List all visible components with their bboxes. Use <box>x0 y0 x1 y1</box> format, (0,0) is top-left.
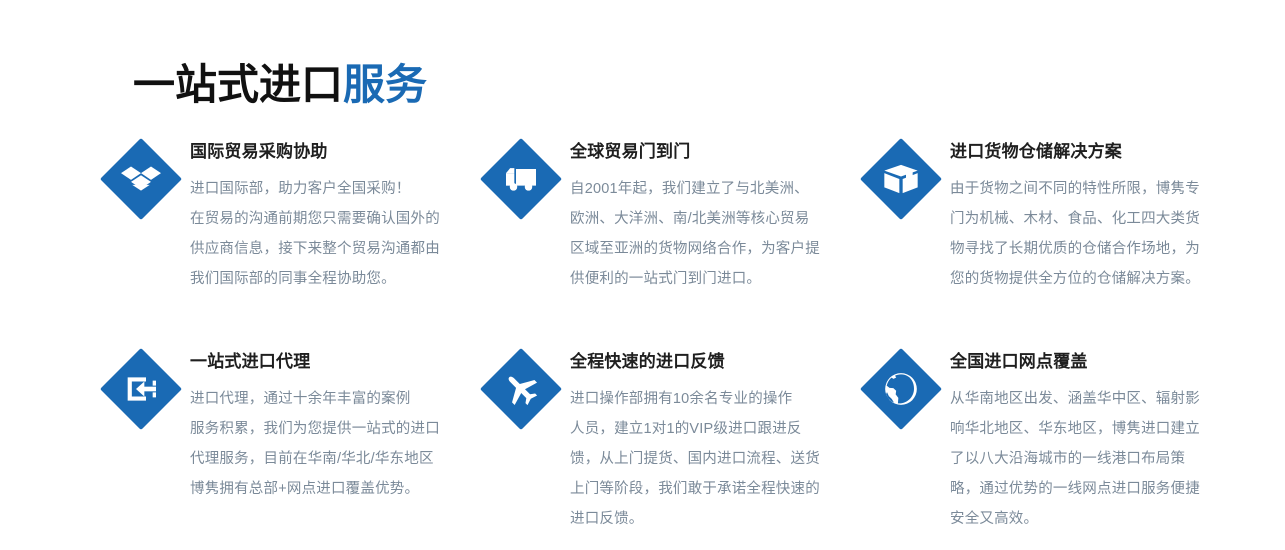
card-title: 全国进口网点覆盖 <box>950 350 1218 374</box>
card-description-line: 进口反馈。 <box>570 504 838 534</box>
card-icon-wrapper <box>860 348 942 430</box>
card-description-line: 安全又高效。 <box>950 504 1218 534</box>
card-description-line: 代理服务，目前在华南/华北/华东地区 <box>190 444 458 474</box>
card-description: 进口国际部，助力客户全国采购！ 在贸易的沟通前期您只需要确认国外的 供应商信息，… <box>190 174 458 294</box>
card-icon-wrapper <box>480 138 562 220</box>
card-description-line: 您的货物提供全方位的仓储解决方案。 <box>950 264 1218 294</box>
card-icon-wrapper <box>100 348 182 430</box>
card-body: 全程快速的进口反馈 进口操作部拥有10余名专业的操作 人员，建立1对1的VIP级… <box>570 340 838 534</box>
card-title: 全程快速的进口反馈 <box>570 350 838 374</box>
service-card[interactable]: 全球贸易门到门 自2001年起，我们建立了与北美洲、 欧洲、大洋洲、南/北美洲等… <box>480 130 860 340</box>
card-icon-wrapper <box>860 138 942 220</box>
service-card[interactable]: 一站式进口代理 进口代理，通过十余年丰富的案例 服务积累，我们为您提供一站式的进… <box>100 340 480 550</box>
card-description-line: 从华南地区出发、涵盖华中区、辐射影 <box>950 384 1218 414</box>
card-description-line: 在贸易的沟通前期您只需要确认国外的 <box>190 204 458 234</box>
card-description-line: 门为机械、木材、食品、化工四大类货 <box>950 204 1218 234</box>
service-card[interactable]: 国际贸易采购协助 进口国际部，助力客户全国采购！ 在贸易的沟通前期您只需要确认国… <box>100 130 480 340</box>
card-description-line: 我们国际部的同事全程协助您。 <box>190 264 458 294</box>
dropbox-boxes-icon <box>121 159 161 199</box>
card-icon-wrapper <box>480 348 562 430</box>
card-description-line: 进口操作部拥有10余名专业的操作 <box>570 384 838 414</box>
card-description-line: 供便利的一站式门到门进口。 <box>570 264 838 294</box>
import-services-section: 一站式进口服务 国际贸易采购协助 进口国际部，助力客户全国采购！ <box>0 0 1285 539</box>
card-description-line: 由于货物之间不同的特性所限，博隽专 <box>950 174 1218 204</box>
service-card[interactable]: 全程快速的进口反馈 进口操作部拥有10余名专业的操作 人员，建立1对1的VIP级… <box>480 340 860 550</box>
card-description-line: 了以八大沿海城市的一线港口布局策 <box>950 444 1218 474</box>
card-description-line: 进口代理，通过十余年丰富的案例 <box>190 384 458 414</box>
card-description-line: 欧洲、大洋洲、南/北美洲等核心贸易 <box>570 204 838 234</box>
card-body: 国际贸易采购协助 进口国际部，助力客户全国采购！ 在贸易的沟通前期您只需要确认国… <box>190 130 458 294</box>
page-title-accent: 服务 <box>343 61 427 108</box>
card-title: 国际贸易采购协助 <box>190 140 458 164</box>
card-body: 全国进口网点覆盖 从华南地区出发、涵盖华中区、辐射影 响华北地区、华东地区，博隽… <box>950 340 1218 534</box>
card-description: 由于货物之间不同的特性所限，博隽专 门为机械、木材、食品、化工四大类货 物寻找了… <box>950 174 1218 294</box>
page-title-plain: 一站式进口 <box>133 61 343 108</box>
sign-in-icon <box>121 369 161 409</box>
card-description-line: 博隽拥有总部+网点进口覆盖优势。 <box>190 474 458 504</box>
card-description-line: 进口国际部，助力客户全国采购！ <box>190 174 458 204</box>
card-description-line: 服务积累，我们为您提供一站式的进口 <box>190 414 458 444</box>
card-description: 进口操作部拥有10余名专业的操作 人员，建立1对1的VIP级进口跟进反 馈，从上… <box>570 384 838 534</box>
truck-icon <box>501 159 541 199</box>
page-title: 一站式进口服务 <box>133 57 427 113</box>
card-body: 全球贸易门到门 自2001年起，我们建立了与北美洲、 欧洲、大洋洲、南/北美洲等… <box>570 130 838 294</box>
card-description: 自2001年起，我们建立了与北美洲、 欧洲、大洋洲、南/北美洲等核心贸易 区域至… <box>570 174 838 294</box>
card-description-line: 区域至亚洲的货物网络合作，为客户提 <box>570 234 838 264</box>
card-description-line: 略，通过优势的一线网点进口服务便捷 <box>950 474 1218 504</box>
package-box-icon <box>881 159 921 199</box>
card-title: 一站式进口代理 <box>190 350 458 374</box>
service-card-grid: 国际贸易采购协助 进口国际部，助力客户全国采购！ 在贸易的沟通前期您只需要确认国… <box>100 130 1250 550</box>
card-description-line: 供应商信息，接下来整个贸易沟通都由 <box>190 234 458 264</box>
card-description: 进口代理，通过十余年丰富的案例 服务积累，我们为您提供一站式的进口 代理服务，目… <box>190 384 458 504</box>
card-body: 进口货物仓储解决方案 由于货物之间不同的特性所限，博隽专 门为机械、木材、食品、… <box>950 130 1218 294</box>
card-title: 全球贸易门到门 <box>570 140 838 164</box>
card-description-line: 响华北地区、华东地区，博隽进口建立 <box>950 414 1218 444</box>
globe-icon <box>881 369 921 409</box>
card-description-line: 物寻找了长期优质的仓储合作场地，为 <box>950 234 1218 264</box>
card-body: 一站式进口代理 进口代理，通过十余年丰富的案例 服务积累，我们为您提供一站式的进… <box>190 340 458 504</box>
card-icon-wrapper <box>100 138 182 220</box>
card-description-line: 上门等阶段，我们敢于承诺全程快速的 <box>570 474 838 504</box>
card-description-line: 人员，建立1对1的VIP级进口跟进反 <box>570 414 838 444</box>
card-title: 进口货物仓储解决方案 <box>950 140 1218 164</box>
card-description: 从华南地区出发、涵盖华中区、辐射影 响华北地区、华东地区，博隽进口建立 了以八大… <box>950 384 1218 534</box>
card-description-line: 馈，从上门提货、国内进口流程、送货 <box>570 444 838 474</box>
service-card[interactable]: 全国进口网点覆盖 从华南地区出发、涵盖华中区、辐射影 响华北地区、华东地区，博隽… <box>860 340 1240 550</box>
airplane-icon <box>501 369 541 409</box>
card-description-line: 自2001年起，我们建立了与北美洲、 <box>570 174 838 204</box>
service-card[interactable]: 进口货物仓储解决方案 由于货物之间不同的特性所限，博隽专 门为机械、木材、食品、… <box>860 130 1240 340</box>
